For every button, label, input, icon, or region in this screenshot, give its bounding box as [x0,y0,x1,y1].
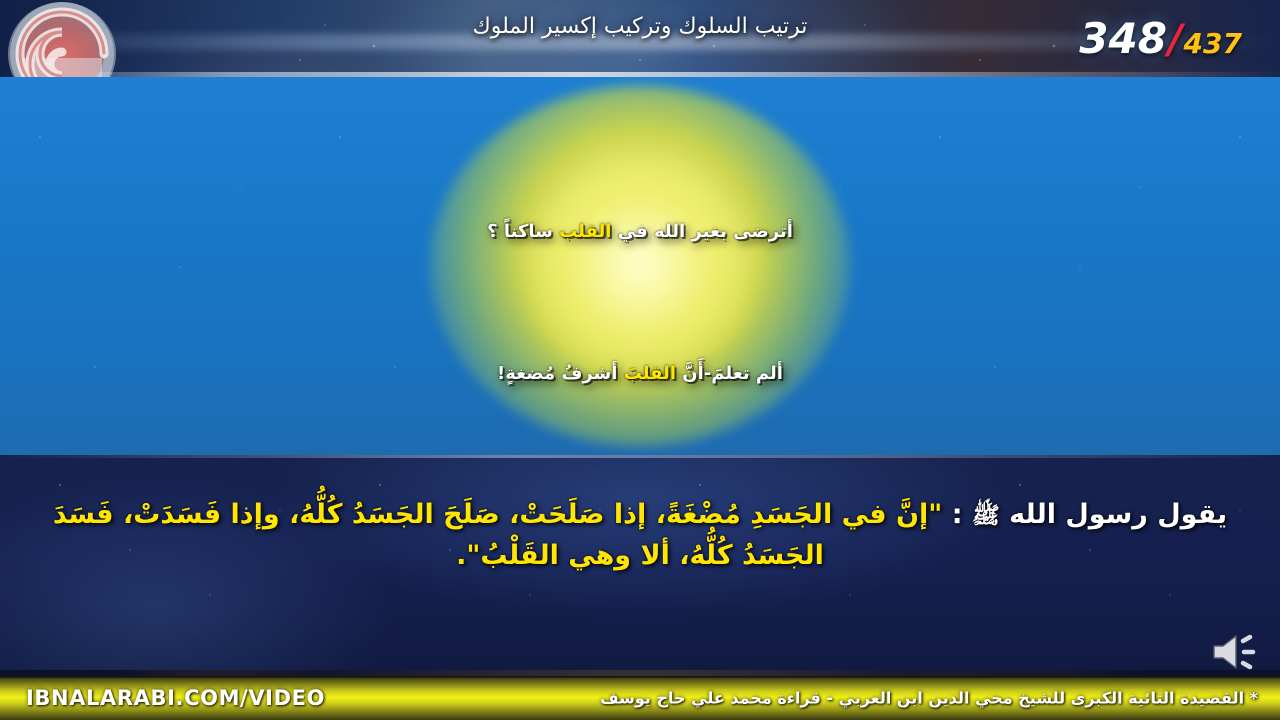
verse-line-1-part-1: أترضى بغير الله في [611,221,792,242]
hadith-colon: : [942,499,972,530]
sallallahu-alayhi-wasallam-icon: ﷺ [972,503,1000,529]
hadith-intro: يقول رسول الله [1000,499,1227,530]
verse-panel-stars [0,77,1280,455]
verse-line-2-highlight: القلبَ [624,363,676,384]
site-url-label[interactable]: IBNALARABI.COM/VIDEO [26,686,325,710]
page-counter-total: 437 [1184,30,1242,58]
verse-line-2-part-1: ألم تعلمَ-أَنَّ [676,363,783,384]
page-counter: 348 / 437 [1079,18,1242,60]
hadith-text: يقول رسول الله ﷺ : "إنَّ في الجَسَدِ مُض… [28,495,1252,576]
verse-panel: أترضى بغير الله في القلب ساكناً ؟ ألم تع… [0,77,1280,455]
credit-label: * القصيدة التائية الكبرى للشيخ محي الدين… [600,689,1258,708]
page-counter-current: 348 [1079,18,1167,60]
verse-line-1: أترضى بغير الله في القلب ساكناً ؟ [0,221,1280,242]
verse-line-2-part-2: أشرفُ مُضغةٍ! [497,363,624,384]
hadith-panel: يقول رسول الله ﷺ : "إنَّ في الجَسَدِ مُض… [0,455,1280,670]
page-counter-separator: / [1168,20,1183,60]
bottom-bar: IBNALARABI.COM/VIDEO * القصيدة التائية ا… [0,676,1280,720]
speaker-volume-icon[interactable] [1210,632,1264,672]
hadith-quote: "إنَّ في الجَسَدِ مُضْغَةً، إذا صَلَحَتْ… [53,499,943,571]
verse-line-2: ألم تعلمَ-أَنَّ القلبَ أشرفُ مُضغةٍ! [0,363,1280,384]
video-frame: ترتيب السلوك وتركيب إكسير الملوك 348 / 4… [0,0,1280,720]
verse-line-1-part-2: ساكناً ؟ [487,221,559,242]
verse-line-1-highlight: القلب [559,221,611,242]
